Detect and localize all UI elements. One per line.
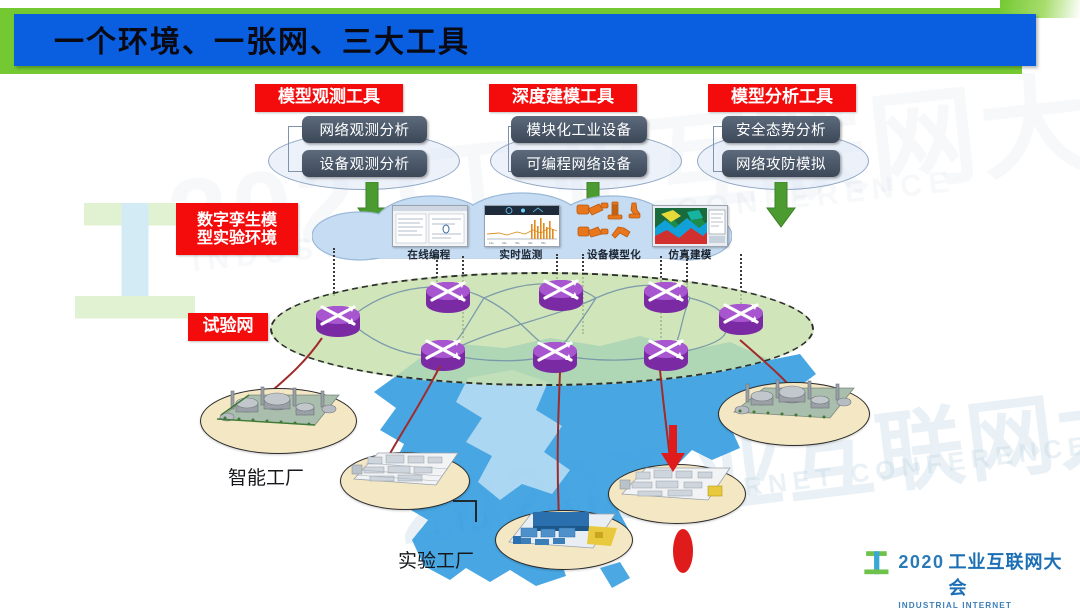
tool-item-3-1[interactable]: 安全态势分析 — [722, 116, 840, 143]
capability-label-2: 实时监测 — [475, 247, 567, 262]
screenshot-simulation-thumbnail[interactable] — [652, 205, 728, 247]
environment-label-line1: 数字孪生模 — [197, 211, 277, 229]
factory-label-1: 智能工厂 — [228, 463, 304, 490]
svg-text:30s: 30s — [515, 241, 520, 245]
tool-item-1-2[interactable]: 设备观测分析 — [302, 150, 427, 177]
page-title: 一个环境、一张网、三大工具 — [54, 17, 470, 61]
bracket-mark — [452, 500, 482, 524]
port-terminal-icon-3 — [499, 504, 629, 558]
logo-title-cn: 工业互联网大会 — [948, 548, 1080, 600]
red-ellipse-marker-icon — [672, 528, 694, 574]
tool-header-2[interactable]: 深度建模工具 — [489, 84, 637, 112]
tool-item-2-1[interactable]: 模块化工业设备 — [511, 116, 647, 143]
svg-text:10s: 10s — [489, 241, 494, 245]
port-terminal-icon-1 — [344, 445, 468, 495]
slide-title-bar: 一个环境、一张网、三大工具 — [14, 14, 1036, 66]
environment-label-line2: 型实验环境 — [197, 229, 277, 247]
slide-canvas: 2020工业互联网大会 INDUSTRIAL INTERNET CONFEREN… — [0, 0, 1080, 608]
logo-year: 2020 — [898, 552, 944, 573]
factory-label-2: 实验工厂 — [398, 546, 474, 573]
svg-text:50s: 50s — [541, 241, 546, 245]
capability-label-4: 仿真建模 — [644, 247, 736, 262]
svg-text:20s: 20s — [502, 241, 507, 245]
environment-label[interactable]: 数字孪生模 型实验环境 — [176, 203, 298, 255]
screenshot-monitor-thumbnail[interactable]: 10s20s30s 40s50s — [484, 205, 560, 247]
red-down-arrow-icon — [660, 425, 686, 473]
conference-logo: 2020 工业互联网大会 INDUSTRIAL INTERNET CONFERE… — [862, 548, 1080, 608]
refinery-plant-icon-2 — [722, 378, 866, 430]
tool-item-2-2[interactable]: 可编程网络设备 — [511, 150, 647, 177]
svg-text:40s: 40s — [528, 241, 533, 245]
tool-item-1-1[interactable]: 网络观测分析 — [302, 116, 427, 143]
conference-logo-mark — [862, 548, 891, 578]
green-down-arrow-icon-3 — [766, 182, 796, 228]
tool-item-3-2[interactable]: 网络攻防模拟 — [722, 150, 840, 177]
robot-arm-icon[interactable] — [574, 201, 654, 245]
screenshot-editor-thumbnail[interactable] — [392, 205, 468, 247]
tool-header-1[interactable]: 模型观测工具 — [255, 84, 403, 112]
logo-title-en: INDUSTRIAL INTERNET CONFERENCE — [898, 601, 1080, 608]
refinery-plant-icon-1 — [205, 385, 353, 437]
tool-header-3[interactable]: 模型分析工具 — [708, 84, 856, 112]
